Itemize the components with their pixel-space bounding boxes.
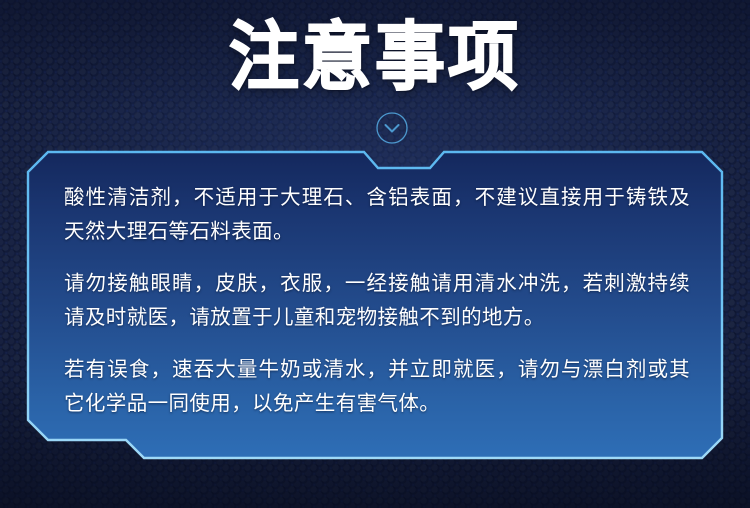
notice-poster: 注意事项: [0, 0, 750, 508]
notice-item: 若有误食，速吞大量牛奶或清水，并立即就医，请勿与漂白剂或其它化学品一同使用，以免…: [64, 352, 690, 420]
page-title: 注意事项: [229, 16, 521, 99]
chevron-down-circle-icon: [375, 111, 409, 145]
page-title-container: 注意事项: [0, 18, 750, 96]
notice-item: 请勿接触眼睛，皮肤，衣服，一经接触请用清水冲洗，若刺激持续请及时就医，请放置于儿…: [64, 266, 690, 334]
notice-panel: 酸性清洁剂，不适用于大理石、含铝表面，不建议直接用于铸铁及天然大理石等石料表面。…: [26, 150, 724, 460]
notice-list: 酸性清洁剂，不适用于大理石、含铝表面，不建议直接用于铸铁及天然大理石等石料表面。…: [26, 150, 724, 460]
notice-item: 酸性清洁剂，不适用于大理石、含铝表面，不建议直接用于铸铁及天然大理石等石料表面。: [64, 180, 690, 248]
